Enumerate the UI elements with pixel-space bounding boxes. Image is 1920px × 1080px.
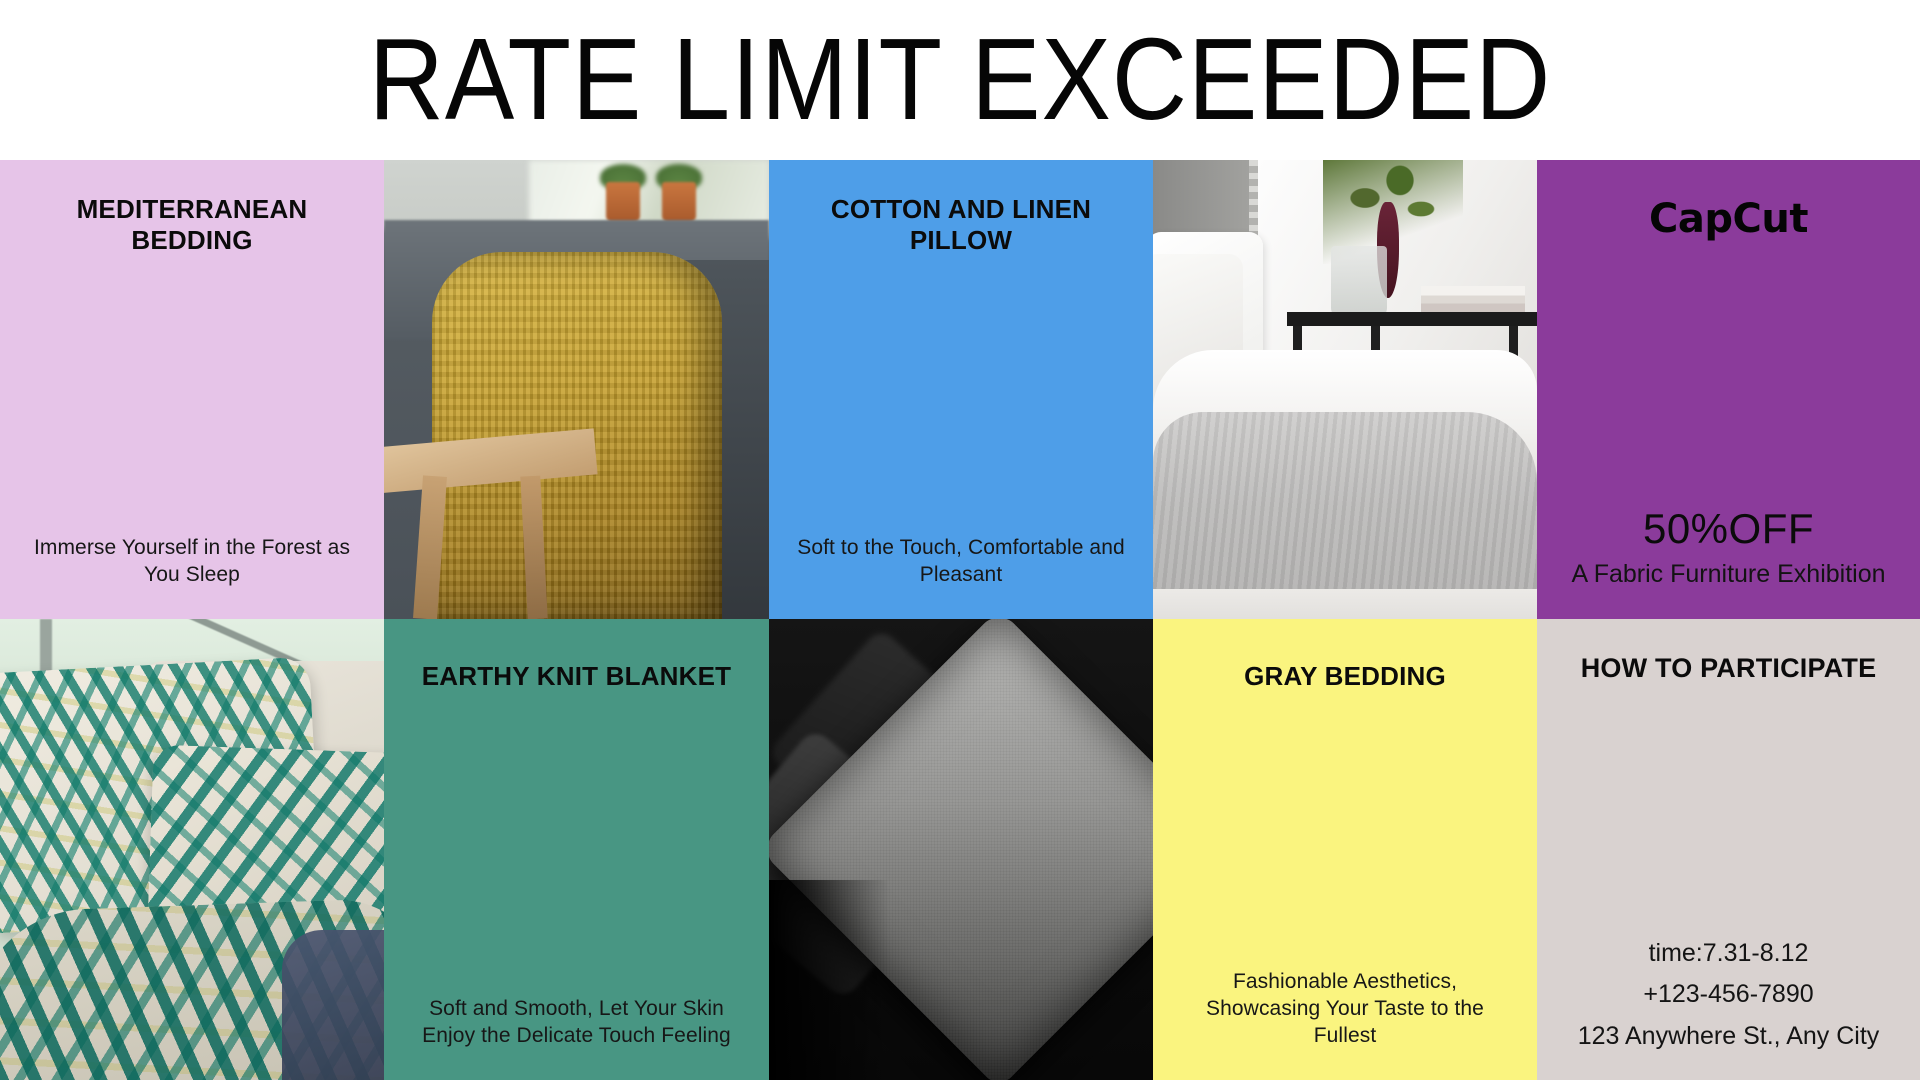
page-title: RATE LIMIT EXCEEDED	[369, 22, 1552, 138]
side-table-top	[1287, 312, 1537, 326]
photo-dark-pillow	[769, 619, 1153, 1080]
panel-earthy-knit-blanket: EARTHY KNIT BLANKET Soft and Smooth, Let…	[384, 619, 769, 1080]
discount-badge: 50%OFF	[1643, 506, 1814, 552]
gray-bedding-title: GRAY BEDDING	[1244, 661, 1446, 692]
poster-canvas: RATE LIMIT EXCEEDED MEDITERRANEAN BEDDIN…	[0, 0, 1920, 1080]
header-banner: RATE LIMIT EXCEEDED	[0, 0, 1920, 160]
panel-how-to-participate: HOW TO PARTICIPATE time:7.31-8.12 +123-4…	[1537, 619, 1920, 1080]
street-address: 123 Anywhere St., Any City	[1578, 1023, 1880, 1051]
poster-grid: MEDITERRANEAN BEDDING Immerse Yourself i…	[0, 160, 1920, 1080]
mediterranean-body: Immerse Yourself in the Forest as You Sl…	[22, 535, 362, 589]
capcut-logo: CapCut	[1649, 196, 1808, 242]
earthy-knit-title: EARTHY KNIT BLANKET	[422, 661, 732, 692]
photo-white-bedroom	[1153, 160, 1537, 619]
shadow-vignette	[769, 880, 889, 1080]
bed-foot	[1153, 589, 1537, 619]
gray-knit-throw	[1153, 412, 1537, 619]
gray-bedding-body: Fashionable Aesthetics, Showcasing Your …	[1175, 969, 1515, 1050]
book-stack	[1421, 286, 1525, 314]
photo-mustard-throw	[384, 160, 769, 619]
glass-vase	[1331, 246, 1387, 318]
mediterranean-title: MEDITERRANEAN BEDDING	[22, 194, 362, 255]
photo-leaf-pillows	[0, 619, 384, 1080]
participate-title: HOW TO PARTICIPATE	[1581, 653, 1877, 685]
throw-blanket-image	[384, 160, 769, 619]
gray-linen-pillow-image	[769, 619, 1153, 1080]
plant-pot-icon	[606, 182, 640, 222]
panel-capcut-promo: CapCut 50%OFF A Fabric Furniture Exhibit…	[1537, 160, 1920, 619]
panel-cotton-and-linen-pillow: COTTON AND LINEN PILLOW Soft to the Touc…	[769, 160, 1153, 619]
leaf-print-image	[0, 619, 384, 1080]
phone-number[interactable]: +123-456-7890	[1643, 981, 1813, 1009]
exhibition-subtitle: A Fabric Furniture Exhibition	[1571, 559, 1885, 590]
bedroom-image	[1153, 160, 1537, 619]
plant-pot-icon	[662, 182, 696, 222]
panel-gray-bedding: GRAY BEDDING Fashionable Aesthetics, Sho…	[1153, 619, 1537, 1080]
navy-fabric	[282, 930, 384, 1080]
cotton-linen-body: Soft to the Touch, Comfortable and Pleas…	[791, 535, 1131, 589]
cotton-linen-title: COTTON AND LINEN PILLOW	[791, 194, 1131, 255]
panel-mediterranean-bedding: MEDITERRANEAN BEDDING Immerse Yourself i…	[0, 160, 384, 619]
event-time: time:7.31-8.12	[1649, 940, 1809, 968]
earthy-knit-body: Soft and Smooth, Let Your Skin Enjoy the…	[406, 996, 747, 1050]
